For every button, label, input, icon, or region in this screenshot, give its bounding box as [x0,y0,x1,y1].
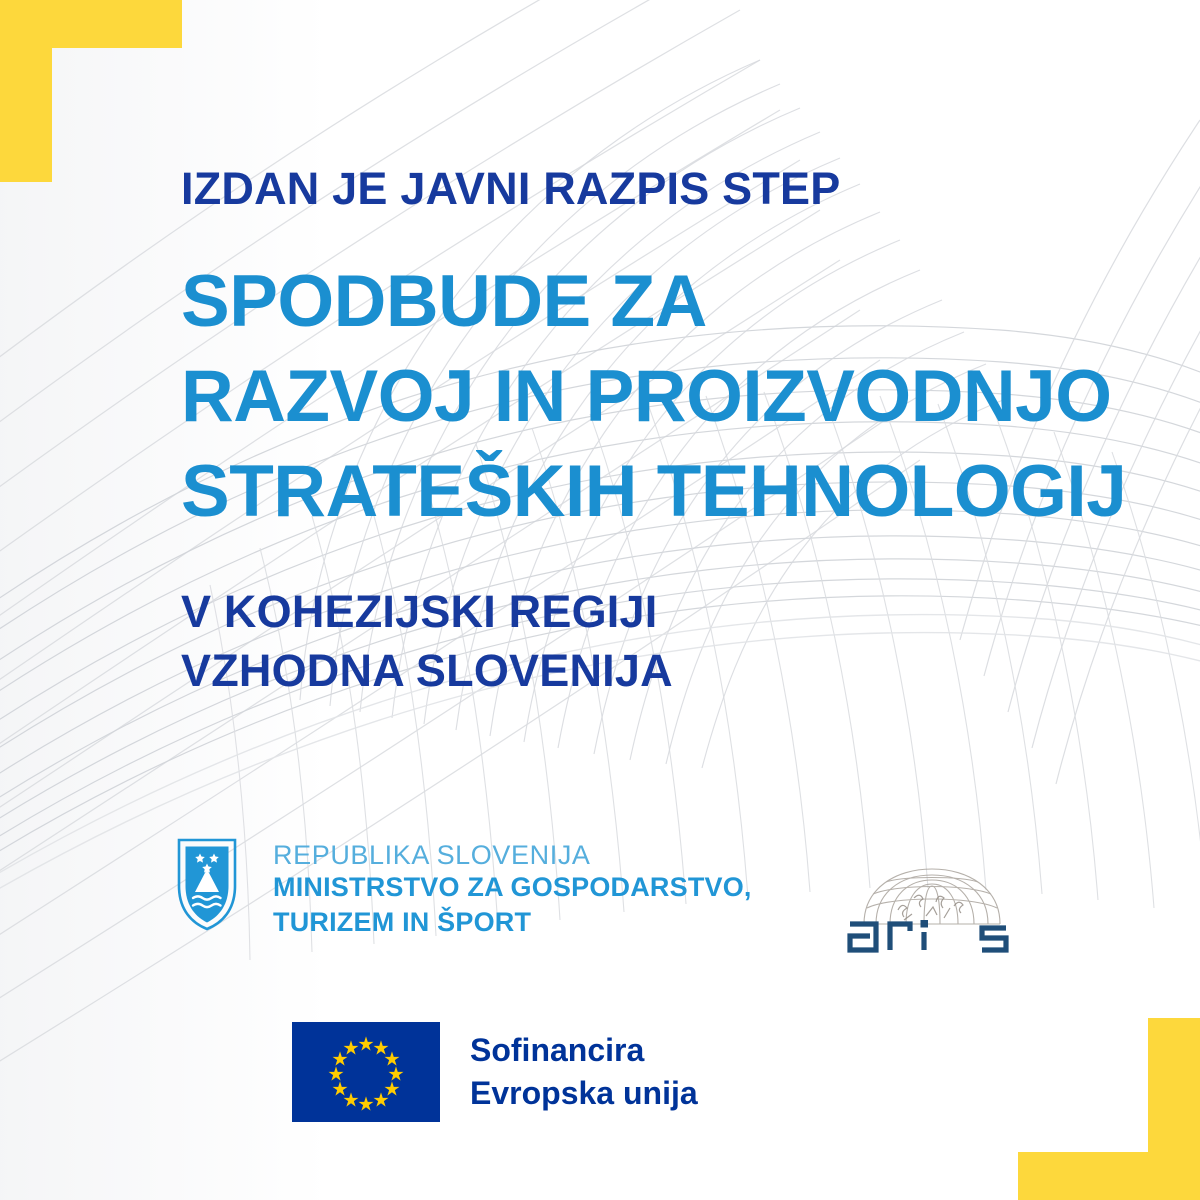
headline-block: IZDAN JE JAVNI RAZPIS STEP SPODBUDE ZA R… [181,166,1141,700]
aris-logo: aris [840,862,1025,962]
title-line-1: SPODBUDE ZA [181,255,1141,350]
yellow-corner-bracket-top-left [0,0,182,182]
corner-arm-horizontal [0,0,182,48]
aris-wordmark-text: aris [850,959,851,960]
region-line-2: VZHODNA SLOVENIJA [181,641,1141,700]
eu-funding-lockup: Sofinancira Evropska unija [292,1022,698,1122]
aris-i-dot [921,920,929,928]
eu-funding-line-1: Sofinancira [470,1029,698,1072]
region-line-1: V KOHEZIJSKI REGIJI [181,582,1141,641]
region-subtitle: V KOHEZIJSKI REGIJI VZHODNA SLOVENIJA [181,582,1141,701]
poster-canvas: IZDAN JE JAVNI RAZPIS STEP SPODBUDE ZA R… [0,0,1200,1200]
globe-dome-icon [864,869,1000,924]
page-title: SPODBUDE ZA RAZVOJ IN PROIZVODNJO STRATE… [181,255,1141,540]
ministry-logo-lockup: REPUBLIKA SLOVENIJA MINISTRSTVO ZA GOSPO… [176,836,752,940]
ministry-text-block: REPUBLIKA SLOVENIJA MINISTRSTVO ZA GOSPO… [273,840,752,940]
corner-arm-vertical [0,0,52,182]
eu-funding-line-2: Evropska unija [470,1072,698,1115]
title-line-3: STRATEŠKIH TEHNOLOGIJ [181,445,1141,540]
eyebrow-announcement: IZDAN JE JAVNI RAZPIS STEP [181,166,1141,211]
title-line-2: RAZVOJ IN PROIZVODNJO [181,350,1141,445]
eu-funding-text-block: Sofinancira Evropska unija [470,1029,698,1114]
corner-arm-horizontal [1018,1152,1200,1200]
ministry-country-name: REPUBLIKA SLOVENIJA [273,840,752,870]
ministry-name-line-1: MINISTRSTVO ZA GOSPODARSTVO, [273,870,752,905]
slovenia-coat-of-arms-icon [176,836,238,932]
corner-arm-vertical [1148,1018,1200,1200]
european-union-flag-icon [292,1022,440,1122]
yellow-corner-bracket-bottom-right [1018,1018,1200,1200]
ministry-name-line-2: TURIZEM IN ŠPORT [273,905,752,940]
